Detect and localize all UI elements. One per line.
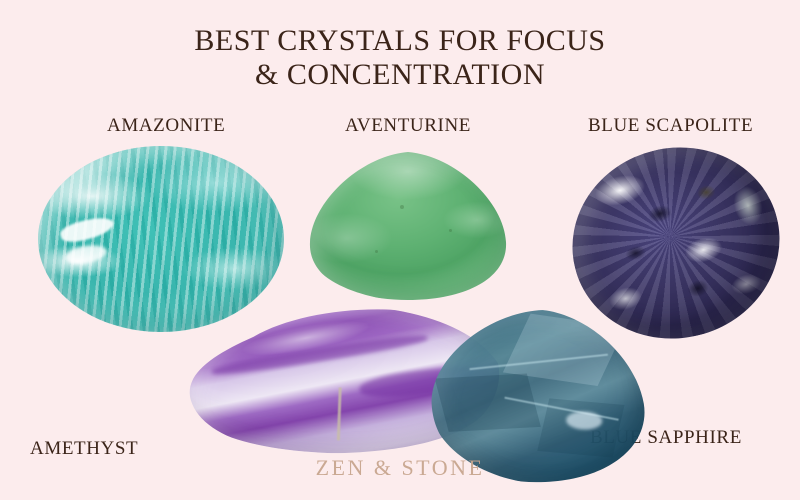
crystal-label-amazonite: AMAZONITE: [107, 115, 225, 137]
aventurine-inclusion: [449, 229, 452, 232]
sapphire-facet-left: [435, 374, 541, 432]
page-title: BEST CRYSTALS FOR FOCUS & CONCENTRATION: [0, 24, 800, 92]
crystal-image-amazonite: [38, 146, 284, 332]
crystal-label-aventurine: AVENTURINE: [345, 115, 471, 137]
amethyst-seam: [337, 388, 342, 441]
aventurine-inclusion: [375, 250, 378, 253]
aventurine-stone-body: [306, 150, 510, 302]
amazonite-gloss-lower: [64, 243, 108, 267]
aventurine-inclusion: [400, 205, 404, 209]
crystal-image-aventurine: [306, 150, 510, 302]
amazonite-stone-body: [38, 146, 284, 332]
amazonite-highlight-top: [48, 153, 146, 201]
amazonite-gloss-upper: [59, 213, 116, 246]
title-line-2: & CONCENTRATION: [0, 58, 800, 92]
poster-canvas: BEST CRYSTALS FOR FOCUS & CONCENTRATION …: [0, 0, 800, 500]
brand-watermark: ZEN & STONE: [0, 455, 800, 481]
sapphire-gloss: [566, 411, 602, 430]
title-line-1: BEST CRYSTALS FOR FOCUS: [194, 24, 605, 57]
